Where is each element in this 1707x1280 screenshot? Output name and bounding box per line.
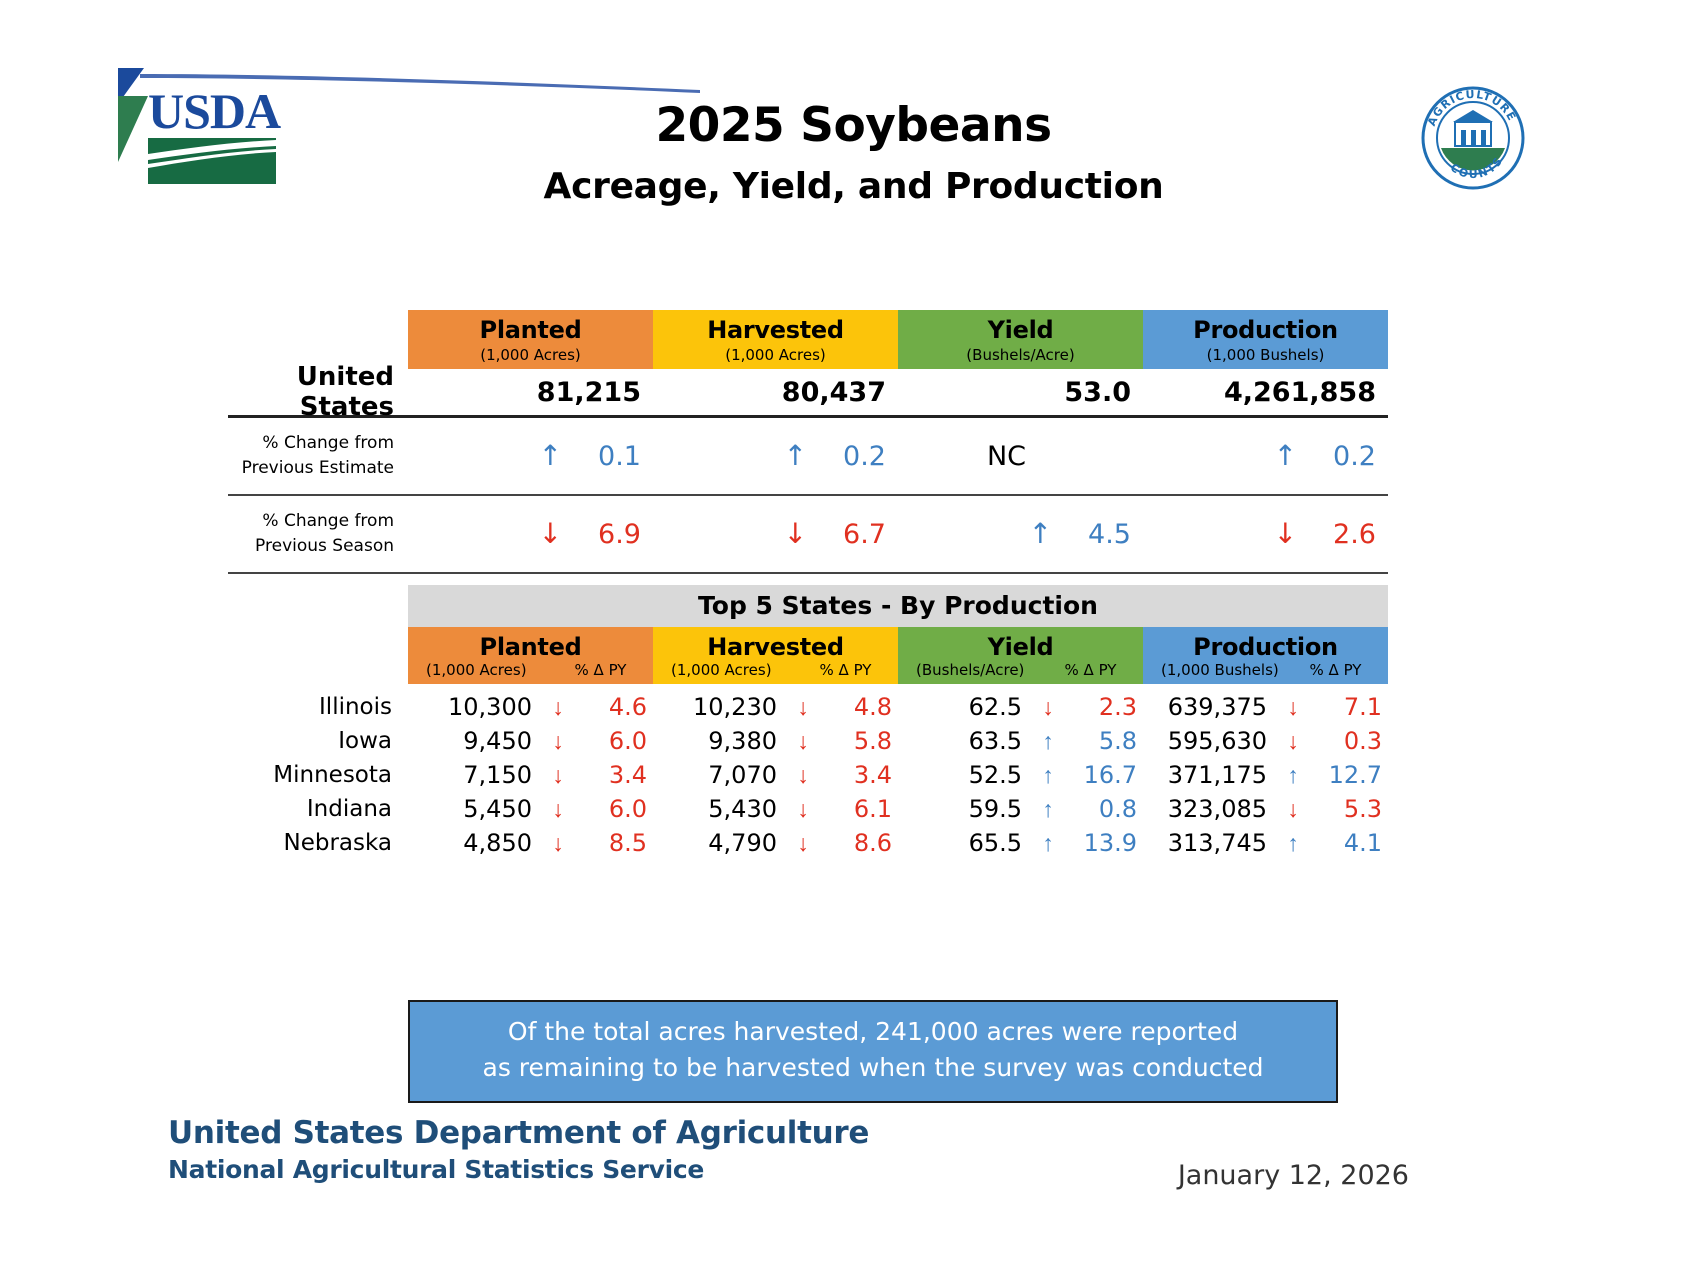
column-unit-yield: (Bushels/Acre)	[898, 344, 1143, 369]
state-yield-group: 63.5 ↑ 5.8	[898, 727, 1143, 755]
footer-agency-line1: United States Department of Agriculture	[168, 1115, 869, 1151]
state-harvested-value: 5,430	[653, 795, 781, 823]
us-harvested-value: 80,437	[653, 377, 898, 408]
arrow-up-icon: ↑	[1026, 728, 1070, 755]
arrow-down-icon: ↓	[539, 520, 562, 548]
state-harvested-value: 9,380	[653, 727, 781, 755]
column-title-planted: Planted	[408, 310, 653, 344]
top5-subheader-yield: (Bushels/Acre) % Δ PY	[898, 661, 1143, 684]
state-planted-value: 4,850	[408, 829, 536, 857]
state-yield-pct: 16.7	[1070, 761, 1143, 789]
top5-subheader-harvested: (1,000 Acres) % Δ PY	[653, 661, 898, 684]
top5-column-header-planted: Planted	[408, 627, 653, 661]
table-row-united-states: United States 81,215 80,437 53.0 4,261,8…	[228, 369, 1518, 415]
state-production-pct: 4.1	[1315, 829, 1388, 857]
column-header-harvested: Harvested (1,000 Acres)	[653, 310, 898, 369]
state-planted-pct: 8.5	[580, 829, 653, 857]
column-unit-planted: (1,000 Acres)	[408, 344, 653, 369]
arrow-up-icon: ↑	[1271, 762, 1315, 789]
state-harvested-group: 7,070 ↓ 3.4	[653, 761, 898, 789]
state-planted-value: 9,450	[408, 727, 536, 755]
arrow-down-icon: ↓	[1271, 694, 1315, 721]
column-header-yield: Yield (Bushels/Acre)	[898, 310, 1143, 369]
us-production-value: 4,261,858	[1143, 377, 1388, 408]
state-production-group: 595,630 ↓ 0.3	[1143, 727, 1388, 755]
column-unit-harvested: (1,000 Acres)	[653, 344, 898, 369]
state-name: Iowa	[228, 728, 408, 754]
chg-season-planted-value: 6.9	[598, 519, 641, 550]
chg-est-yield: NC	[898, 441, 1143, 472]
state-yield-pct: 5.8	[1070, 727, 1143, 755]
chg-est-harvested-value: 0.2	[843, 441, 886, 472]
top5-py-harvested: % Δ PY	[793, 661, 898, 684]
state-name: Nebraska	[228, 830, 408, 856]
arrow-down-icon: ↓	[784, 520, 807, 548]
state-yield-value: 62.5	[898, 693, 1026, 721]
state-harvested-group: 5,430 ↓ 6.1	[653, 795, 898, 823]
state-harvested-value: 4,790	[653, 829, 781, 857]
state-harvested-group: 9,380 ↓ 5.8	[653, 727, 898, 755]
chg-est-harvested: ↑ 0.2	[653, 441, 898, 472]
column-header-planted: Planted (1,000 Acres)	[408, 310, 653, 369]
chg-season-planted: ↓ 6.9	[408, 519, 653, 550]
state-production-group: 313,745 ↑ 4.1	[1143, 829, 1388, 857]
arrow-up-icon: ↑	[1026, 830, 1070, 857]
arrow-down-icon: ↓	[1271, 728, 1315, 755]
chg-season-production-value: 2.6	[1333, 519, 1376, 550]
chg-est-planted: ↑ 0.1	[408, 441, 653, 472]
chg-season-label-line1: % Change from	[228, 509, 394, 534]
arrow-up-icon: ↑	[1026, 796, 1070, 823]
top5-column-title-harvested: Harvested	[653, 627, 898, 661]
chg-est-planted-value: 0.1	[598, 441, 641, 472]
row-label-change-previous-season: % Change from Previous Season	[228, 509, 408, 558]
arrow-down-icon: ↓	[1271, 796, 1315, 823]
top5-column-headers: Planted Harvested Yield Production	[408, 627, 1388, 661]
top5-subheader-production: (1,000 Bushels) % Δ PY	[1143, 661, 1388, 684]
column-unit-production: (1,000 Bushels)	[1143, 344, 1388, 369]
top5-unit-planted: (1,000 Acres)	[408, 661, 548, 684]
arrow-down-icon: ↓	[1026, 694, 1070, 721]
state-harvested-value: 10,230	[653, 693, 781, 721]
divider-bottom-national	[228, 572, 1388, 574]
top5-unit-production: (1,000 Bushels)	[1143, 661, 1283, 684]
state-planted-pct: 4.6	[580, 693, 653, 721]
table-row: Indiana 5,450 ↓ 6.0 5,430 ↓ 6.1 59.5 ↑ 0…	[228, 792, 1518, 826]
row-label-change-previous-estimate: % Change from Previous Estimate	[228, 431, 408, 480]
arrow-up-icon: ↑	[1026, 762, 1070, 789]
chg-season-label-line2: Previous Season	[228, 534, 394, 559]
state-production-group: 639,375 ↓ 7.1	[1143, 693, 1388, 721]
state-planted-value: 5,450	[408, 795, 536, 823]
table-row: Illinois 10,300 ↓ 4.6 10,230 ↓ 4.8 62.5 …	[228, 690, 1518, 724]
table-row: Nebraska 4,850 ↓ 8.5 4,790 ↓ 8.6 65.5 ↑ …	[228, 826, 1518, 860]
state-name: Indiana	[228, 796, 408, 822]
state-production-value: 639,375	[1143, 693, 1271, 721]
state-harvested-pct: 5.8	[825, 727, 898, 755]
top5-unit-yield: (Bushels/Acre)	[898, 661, 1038, 684]
top5-column-header-harvested: Harvested	[653, 627, 898, 661]
top5-states-table: Top 5 States - By Production Planted Har…	[228, 585, 1518, 860]
chg-season-production: ↓ 2.6	[1143, 519, 1388, 550]
state-yield-value: 52.5	[898, 761, 1026, 789]
state-planted-pct: 3.4	[580, 761, 653, 789]
chg-season-yield: ↑ 4.5	[898, 519, 1143, 550]
table-row: Iowa 9,450 ↓ 6.0 9,380 ↓ 5.8 63.5 ↑ 5.8 …	[228, 724, 1518, 758]
state-harvested-group: 4,790 ↓ 8.6	[653, 829, 898, 857]
chg-est-production-value: 0.2	[1333, 441, 1376, 472]
state-yield-group: 59.5 ↑ 0.8	[898, 795, 1143, 823]
state-planted-group: 7,150 ↓ 3.4	[408, 761, 653, 789]
state-harvested-pct: 8.6	[825, 829, 898, 857]
chg-season-harvested-value: 6.7	[843, 519, 886, 550]
state-yield-group: 62.5 ↓ 2.3	[898, 693, 1143, 721]
slide-header: USDA 2025 Soybeans Acreage, Yield, and P…	[0, 0, 1707, 260]
agriculture-counts-seal-icon: AGRICULTURE COUNTS	[1417, 82, 1529, 194]
state-planted-group: 4,850 ↓ 8.5	[408, 829, 653, 857]
state-production-group: 371,175 ↑ 12.7	[1143, 761, 1388, 789]
arrow-down-icon: ↓	[781, 830, 825, 857]
state-planted-group: 9,450 ↓ 6.0	[408, 727, 653, 755]
state-planted-value: 7,150	[408, 761, 536, 789]
top5-column-title-production: Production	[1143, 627, 1388, 661]
state-yield-value: 63.5	[898, 727, 1026, 755]
state-production-pct: 5.3	[1315, 795, 1388, 823]
state-yield-group: 52.5 ↑ 16.7	[898, 761, 1143, 789]
arrow-down-icon: ↓	[536, 728, 580, 755]
us-yield-value: 53.0	[898, 377, 1143, 408]
state-yield-value: 65.5	[898, 829, 1026, 857]
arrow-down-icon: ↓	[536, 762, 580, 789]
top5-subheaders: (1,000 Acres) % Δ PY (1,000 Acres) % Δ P…	[408, 661, 1388, 684]
arrow-down-icon: ↓	[781, 728, 825, 755]
chg-est-label-line2: Previous Estimate	[228, 456, 394, 481]
table-row-change-previous-estimate: % Change from Previous Estimate ↑ 0.1 ↑ …	[228, 418, 1518, 494]
chg-season-yield-value: 4.5	[1088, 519, 1131, 550]
us-planted-value: 81,215	[408, 377, 653, 408]
top5-column-header-production: Production	[1143, 627, 1388, 661]
state-production-value: 313,745	[1143, 829, 1271, 857]
state-production-value: 595,630	[1143, 727, 1271, 755]
arrow-up-icon: ↑	[784, 442, 807, 470]
state-yield-pct: 0.8	[1070, 795, 1143, 823]
column-title-production: Production	[1143, 310, 1388, 344]
top5-column-header-yield: Yield	[898, 627, 1143, 661]
arrow-up-icon: ↑	[1271, 830, 1315, 857]
state-harvested-value: 7,070	[653, 761, 781, 789]
column-title-harvested: Harvested	[653, 310, 898, 344]
chg-est-production: ↑ 0.2	[1143, 441, 1388, 472]
top5-column-title-planted: Planted	[408, 627, 653, 661]
arrow-down-icon: ↓	[1274, 520, 1297, 548]
top5-py-planted: % Δ PY	[548, 661, 653, 684]
top5-py-production: % Δ PY	[1283, 661, 1388, 684]
state-production-pct: 0.3	[1315, 727, 1388, 755]
top5-py-yield: % Δ PY	[1038, 661, 1143, 684]
arrow-down-icon: ↓	[781, 796, 825, 823]
top5-subheader-planted: (1,000 Acres) % Δ PY	[408, 661, 653, 684]
state-harvested-pct: 6.1	[825, 795, 898, 823]
arrow-up-icon: ↑	[539, 442, 562, 470]
state-harvested-group: 10,230 ↓ 4.8	[653, 693, 898, 721]
arrow-down-icon: ↓	[781, 762, 825, 789]
footer-agency-line2: National Agricultural Statistics Service	[168, 1155, 869, 1184]
state-yield-value: 59.5	[898, 795, 1026, 823]
state-production-group: 323,085 ↓ 5.3	[1143, 795, 1388, 823]
state-yield-group: 65.5 ↑ 13.9	[898, 829, 1143, 857]
arrow-up-icon: ↑	[1274, 442, 1297, 470]
chg-season-harvested: ↓ 6.7	[653, 519, 898, 550]
callout-line1: Of the total acres harvested, 241,000 ac…	[420, 1014, 1326, 1050]
table-row-change-previous-season: % Change from Previous Season ↓ 6.9 ↓ 6.…	[228, 496, 1518, 572]
state-planted-pct: 6.0	[580, 727, 653, 755]
chg-est-yield-value: NC	[987, 441, 1026, 472]
row-label-united-states: United States	[228, 362, 408, 422]
chg-est-label-line1: % Change from	[228, 431, 394, 456]
state-yield-pct: 13.9	[1070, 829, 1143, 857]
arrow-down-icon: ↓	[781, 694, 825, 721]
national-summary-table: Planted (1,000 Acres) Harvested (1,000 A…	[228, 310, 1518, 574]
footer-agency: United States Department of Agriculture …	[168, 1115, 869, 1184]
footer-date: January 12, 2026	[1178, 1160, 1409, 1191]
arrow-down-icon: ↓	[536, 694, 580, 721]
top5-column-title-yield: Yield	[898, 627, 1143, 661]
national-column-headers: Planted (1,000 Acres) Harvested (1,000 A…	[408, 310, 1388, 369]
column-header-production: Production (1,000 Bushels)	[1143, 310, 1388, 369]
callout-line2: as remaining to be harvested when the su…	[420, 1050, 1326, 1086]
harvest-note-callout: Of the total acres harvested, 241,000 ac…	[408, 1000, 1338, 1103]
state-production-pct: 12.7	[1315, 761, 1388, 789]
top5-banner: Top 5 States - By Production	[408, 585, 1388, 627]
state-name: Illinois	[228, 694, 408, 720]
state-planted-group: 5,450 ↓ 6.0	[408, 795, 653, 823]
state-name: Minnesota	[228, 762, 408, 788]
arrow-down-icon: ↓	[536, 796, 580, 823]
state-production-pct: 7.1	[1315, 693, 1388, 721]
state-production-value: 323,085	[1143, 795, 1271, 823]
state-harvested-pct: 4.8	[825, 693, 898, 721]
column-title-yield: Yield	[898, 310, 1143, 344]
state-planted-value: 10,300	[408, 693, 536, 721]
state-planted-group: 10,300 ↓ 4.6	[408, 693, 653, 721]
arrow-down-icon: ↓	[536, 830, 580, 857]
arrow-up-icon: ↑	[1029, 520, 1052, 548]
state-harvested-pct: 3.4	[825, 761, 898, 789]
state-planted-pct: 6.0	[580, 795, 653, 823]
state-production-value: 371,175	[1143, 761, 1271, 789]
state-yield-pct: 2.3	[1070, 693, 1143, 721]
table-row: Minnesota 7,150 ↓ 3.4 7,070 ↓ 3.4 52.5 ↑…	[228, 758, 1518, 792]
top5-unit-harvested: (1,000 Acres)	[653, 661, 793, 684]
